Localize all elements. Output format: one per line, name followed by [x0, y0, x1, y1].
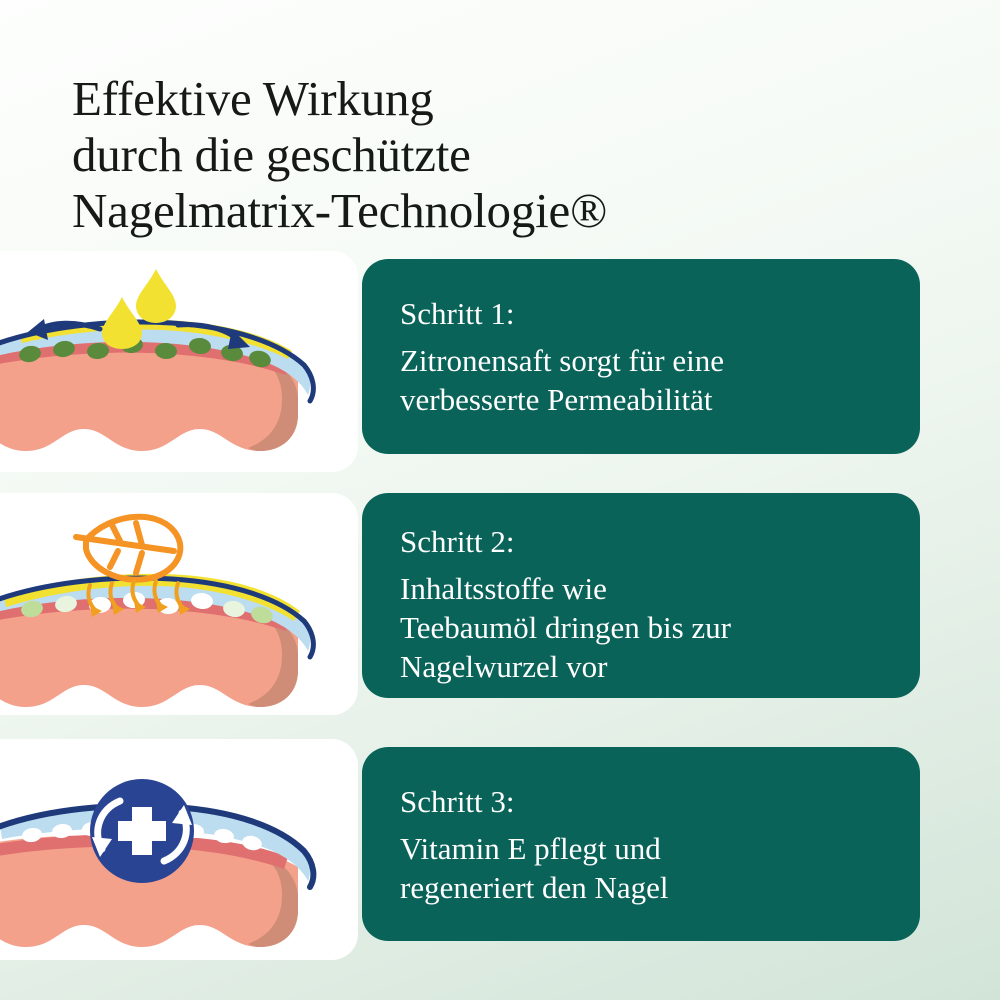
leaf-icon: [76, 517, 180, 580]
step-row-2: Schritt 2: Inhaltsstoffe wie Teebaumöl d…: [0, 493, 1000, 715]
step-row-3: Schritt 3: Vitamin E pflegt und regeneri…: [0, 739, 1000, 960]
step-3-description: Vitamin E pflegt und regeneriert den Nag…: [400, 829, 886, 907]
droplet-on-nail-icon: [102, 297, 142, 349]
step-3-text-card: Schritt 3: Vitamin E pflegt und regeneri…: [362, 747, 920, 941]
nail-cross-section-tea-tree-leaf: [0, 493, 358, 715]
step-2-text-card: Schritt 2: Inhaltsstoffe wie Teebaumöl d…: [362, 493, 920, 698]
step-1-description: Zitronensaft sorgt für eine verbesserte …: [400, 341, 886, 419]
step-1-text-card: Schritt 1: Zitronensaft sorgt für eine v…: [362, 259, 920, 454]
nail-cross-section-lemon-drop: [0, 251, 358, 472]
page-title: Effektive Wirkung durch die geschützte N…: [72, 71, 892, 239]
step-2-label: Schritt 2:: [400, 523, 886, 561]
step-2-illustration-card: [0, 493, 358, 715]
step-3-label: Schritt 3:: [400, 783, 886, 821]
droplet-icon: [136, 269, 176, 323]
infographic-page: Effektive Wirkung durch die geschützte N…: [0, 0, 1000, 1000]
regenerate-badge-icon: [90, 779, 194, 883]
step-1-label: Schritt 1:: [400, 295, 886, 333]
step-row-1: Schritt 1: Zitronensaft sorgt für eine v…: [0, 251, 1000, 472]
nail-cross-section-regeneration-badge: [0, 739, 358, 960]
step-2-description: Inhaltsstoffe wie Teebaumöl dringen bis …: [400, 569, 886, 686]
step-3-illustration-card: [0, 739, 358, 960]
step-1-illustration-card: [0, 251, 358, 472]
